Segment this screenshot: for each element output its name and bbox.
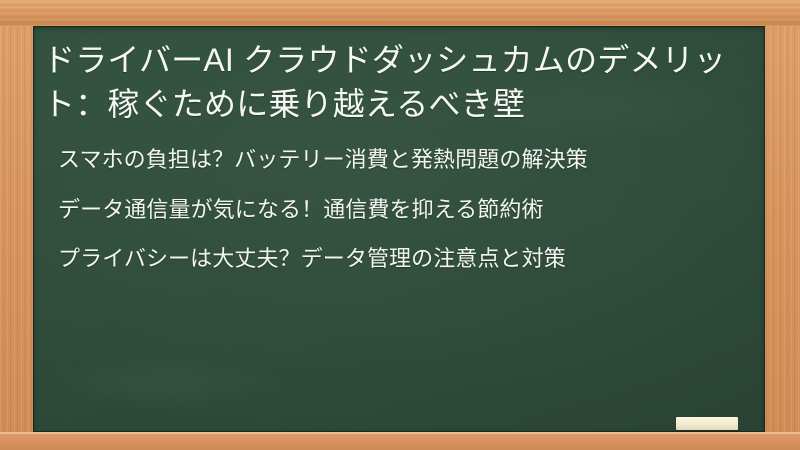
frame-rail-top — [0, 0, 800, 26]
list-item[interactable]: データ通信量が気になる！通信費を抑える節約術 — [58, 194, 721, 225]
tray-highlight — [0, 432, 800, 434]
chalkboard-surface: ドライバーAI クラウドダッシュカムのデメリット：稼ぐために乗り越えるべき壁 ス… — [33, 26, 765, 432]
outline-list: スマホの負担は？バッテリー消費と発熱問題の解決策 データ通信量が気になる！通信費… — [38, 144, 745, 274]
frame-chalk-tray — [0, 432, 800, 450]
page-title: ドライバーAI クラウドダッシュカムのデメリット：稼ぐために乗り越えるべき壁 — [38, 38, 743, 126]
chalkboard-card: ドライバーAI クラウドダッシュカムのデメリット：稼ぐために乗り越えるべき壁 ス… — [0, 0, 800, 450]
list-item[interactable]: スマホの負担は？バッテリー消費と発熱問題の解決策 — [58, 144, 721, 175]
chalk-stick-icon — [676, 417, 738, 430]
list-item[interactable]: プライバシーは大丈夫？データ管理の注意点と対策 — [58, 243, 721, 274]
board-content: ドライバーAI クラウドダッシュカムのデメリット：稼ぐために乗り越えるべき壁 ス… — [33, 26, 765, 274]
